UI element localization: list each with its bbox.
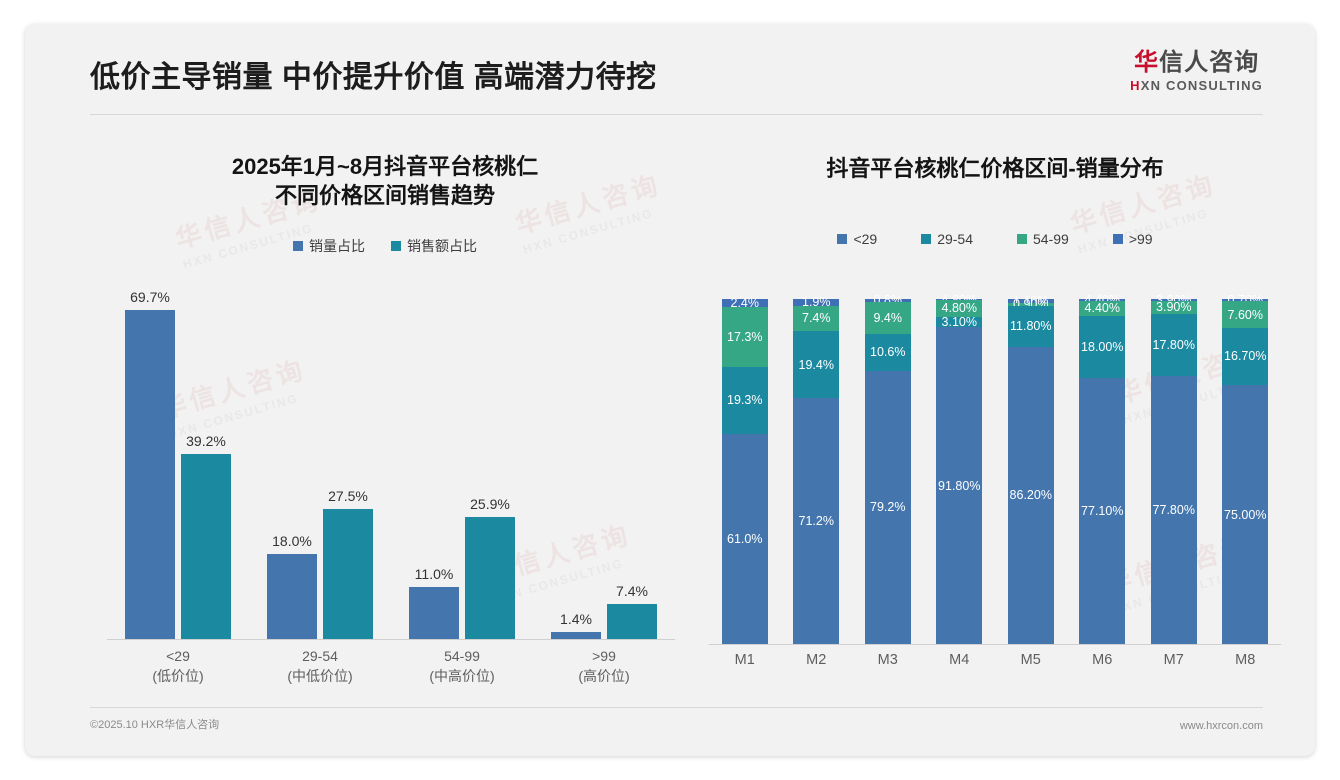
bar-group: 1.4%7.4% (533, 299, 675, 639)
stack-segment[interactable]: 19.4% (793, 331, 839, 398)
segment-value-label: 9.4% (874, 311, 903, 325)
x-axis-label: M5 (995, 652, 1067, 668)
segment-value-label: 79.2% (870, 500, 905, 514)
bar[interactable]: 11.0% (409, 587, 459, 639)
bar-value-label: 18.0% (272, 533, 312, 549)
page-title: 低价主导销量 中价提升价值 高端潜力待挖 (90, 52, 657, 96)
bar[interactable]: 27.5% (323, 509, 373, 639)
brand-logo: 华信人咨询 HXN CONSULTING (1130, 50, 1263, 93)
header: 低价主导销量 中价提升价值 高端潜力待挖 华信人咨询 HXN CONSULTIN… (25, 24, 1315, 120)
stacked-bar-column: 4.80%4.80%3.10%91.80% (924, 299, 996, 644)
bar-group: 18.0%27.5% (249, 299, 391, 639)
stacked-bar[interactable]: 4.40%4.40%18.00%77.10% (1079, 299, 1125, 644)
stack-segment[interactable]: 17.3% (722, 307, 768, 367)
stack-segment[interactable]: 3.90% (1151, 301, 1197, 314)
x-axis-label: M6 (1067, 652, 1139, 668)
slide-root: 华信人咨询 HXN CONSULTING 华信人咨询 HXN CONSULTIN… (0, 0, 1340, 780)
bar[interactable]: 1.4% (551, 632, 601, 639)
legend-swatch-icon (1017, 234, 1027, 244)
stack-segment[interactable]: 75.00% (1222, 385, 1268, 644)
bar-value-label: 7.4% (616, 583, 648, 599)
chart-right-title: 抖音平台核桃仁价格区间-销量分布 (695, 154, 1295, 183)
stack-segment[interactable]: 77.10% (1079, 378, 1125, 644)
legend-label: 29-54 (937, 231, 973, 247)
stack-segment[interactable]: 3.10% (936, 317, 982, 328)
logo-chinese: 华信人咨询 (1130, 50, 1263, 76)
segment-value-label: 91.80% (938, 479, 980, 493)
legend-item[interactable]: 销售额占比 (391, 236, 477, 256)
bar-value-label: 39.2% (186, 433, 226, 449)
bar-value-label: 1.4% (560, 611, 592, 627)
x-axis-label-tier: (中高价位) (391, 666, 533, 686)
bar-groups: 69.7%39.2%18.0%27.5%11.0%25.9%1.4%7.4% (107, 299, 675, 639)
segment-value-label: 18.00% (1081, 340, 1123, 354)
x-axis-label: 54-99(中高价位) (391, 646, 533, 687)
segment-value-label: 4.80% (942, 301, 977, 315)
chart-left-title: 2025年1月~8月抖音平台核桃仁 不同价格区间销售趋势 (85, 152, 685, 210)
segment-value-label: 77.10% (1081, 504, 1123, 518)
chart-left-x-axis (107, 639, 675, 640)
legend-item[interactable]: >99 (1113, 231, 1153, 247)
logo-chinese-rest: 信人咨询 (1159, 49, 1259, 76)
bar-fill (125, 310, 175, 639)
x-axis-label-range: 29-54 (249, 646, 391, 666)
stack-segment[interactable]: 91.80% (936, 327, 982, 644)
legend-label: 54-99 (1033, 231, 1069, 247)
stack-segment[interactable]: 61.0% (722, 434, 768, 644)
chart-left-title-line2: 不同价格区间销售趋势 (85, 181, 685, 210)
legend-item[interactable]: 54-99 (1017, 231, 1069, 247)
x-axis-label: M1 (709, 652, 781, 668)
bar-fill (607, 604, 657, 639)
stack-segment[interactable]: 86.20% (1008, 347, 1054, 644)
bar-group: 69.7%39.2% (107, 299, 249, 639)
stacked-bar-column: 3.90%3.90%17.80%77.80% (1138, 299, 1210, 644)
bar[interactable]: 7.4% (607, 604, 657, 639)
stacked-bar-column: 4.40%4.40%18.00%77.10% (1067, 299, 1139, 644)
legend-swatch-icon (1113, 234, 1123, 244)
bar-fill (551, 632, 601, 639)
stack-segment[interactable]: 4.40% (1079, 301, 1125, 316)
stack-segment[interactable]: 79.2% (865, 371, 911, 644)
x-axis-label-tier: (高价位) (533, 666, 675, 686)
logo-english-first-char: H (1130, 78, 1141, 93)
x-axis-label-range: >99 (533, 646, 675, 666)
legend-label: 销量占比 (309, 236, 365, 256)
segment-value-label: 86.20% (1010, 488, 1052, 502)
stacked-bar-column: 0.8%9.4%10.6%79.2% (852, 299, 924, 644)
segment-value-label: 17.3% (727, 330, 762, 344)
x-axis-label: >99(高价位) (533, 646, 675, 687)
bar[interactable]: 69.7% (125, 310, 175, 639)
chart-left-title-line1: 2025年1月~8月抖音平台核桃仁 (85, 152, 685, 181)
logo-english: HXN CONSULTING (1130, 78, 1263, 93)
segment-value-label: 7.60% (1228, 308, 1263, 322)
x-axis-label: M3 (852, 652, 924, 668)
stack-segment[interactable]: 10.6% (865, 334, 911, 371)
bar-value-label: 27.5% (328, 488, 368, 504)
x-axis-label-range: <29 (107, 646, 249, 666)
stacked-bar-column: 1.10%0.90%11.80%86.20% (995, 299, 1067, 644)
stack-segment[interactable]: 77.80% (1151, 376, 1197, 644)
legend-swatch-icon (391, 241, 401, 251)
chart-panel-left: 2025年1月~8月抖音平台核桃仁 不同价格区间销售趋势 销量占比 销售额占比 … (85, 134, 685, 714)
segment-value-label: 16.70% (1224, 349, 1266, 363)
stack-segment[interactable]: 11.80% (1008, 306, 1054, 347)
slide-card: 华信人咨询 HXN CONSULTING 华信人咨询 HXN CONSULTIN… (25, 24, 1315, 756)
stack-segment[interactable]: 7.60% (1222, 301, 1268, 327)
legend-label: 销售额占比 (407, 236, 477, 256)
legend-swatch-icon (293, 241, 303, 251)
bar[interactable]: 18.0% (267, 554, 317, 639)
bar-fill (409, 587, 459, 639)
stacked-bar[interactable]: 4.80%4.80%3.10%91.80% (936, 299, 982, 644)
logo-english-rest: XN CONSULTING (1141, 78, 1263, 93)
x-axis-label: 29-54(中低价位) (249, 646, 391, 687)
bar-value-label: 11.0% (415, 566, 454, 582)
segment-value-label: 10.6% (870, 345, 905, 359)
chart-right-x-axis (709, 644, 1281, 645)
chart-right-plot: 2.4%17.3%19.3%61.0%1.9%7.4%19.4%71.2%0.8… (709, 299, 1281, 644)
stack-segment[interactable]: 9.4% (865, 302, 911, 334)
stacked-bar-column: 1.9%7.4%19.4%71.2% (781, 299, 853, 644)
bar[interactable]: 39.2% (181, 454, 231, 639)
bar-value-label: 69.7% (130, 289, 170, 305)
footer-website[interactable]: www.hxrcon.com (1180, 720, 1263, 732)
segment-value-label: 3.90% (1156, 300, 1191, 314)
chart-right-x-labels: M1M2M3M4M5M6M7M8 (709, 652, 1281, 668)
bar-value-label: 25.9% (470, 496, 510, 512)
stacked-bar[interactable]: 0.8%9.4%10.6%79.2% (865, 299, 911, 644)
stacked-bar-column: 2.4%17.3%19.3%61.0% (709, 299, 781, 644)
x-axis-label: M7 (1138, 652, 1210, 668)
segment-value-label: 61.0% (727, 532, 762, 546)
segment-value-label: 75.00% (1224, 508, 1266, 522)
bar-fill (465, 517, 515, 639)
footer-copyright: ©2025.10 HXR华信人咨询 (90, 716, 219, 732)
x-axis-label-tier: (低价位) (107, 666, 249, 686)
stack-segment[interactable]: 71.2% (793, 398, 839, 644)
stack-segment[interactable]: 7.4% (793, 306, 839, 332)
stack-segment[interactable]: 18.00% (1079, 316, 1125, 378)
legend-swatch-icon (921, 234, 931, 244)
footer-divider (90, 707, 1263, 708)
x-axis-label: <29(低价位) (107, 646, 249, 687)
segment-value-label: 11.80% (1010, 319, 1051, 333)
bar-fill (181, 454, 231, 639)
header-divider (90, 114, 1263, 115)
segment-value-label: 4.40% (1085, 301, 1120, 315)
segment-value-label: 71.2% (799, 514, 834, 528)
bar-fill (267, 554, 317, 639)
segment-value-label: 77.80% (1153, 503, 1195, 517)
bar[interactable]: 25.9% (465, 517, 515, 639)
chart-right-legend: <29 29-54 54-99 >99 (695, 231, 1295, 247)
chart-panel-right: 抖音平台核桃仁价格区间-销量分布 <29 29-54 54-99 >99 (695, 134, 1295, 714)
stacked-bar[interactable]: 0.70%7.60%16.70%75.00% (1222, 299, 1268, 644)
stacked-bar-column: 0.70%7.60%16.70%75.00% (1210, 299, 1282, 644)
legend-item[interactable]: <29 (837, 231, 877, 247)
x-axis-label: M2 (781, 652, 853, 668)
stack-segment[interactable]: 16.70% (1222, 328, 1268, 386)
legend-swatch-icon (837, 234, 847, 244)
segment-value-label: 17.80% (1153, 338, 1195, 352)
segment-value-label: 7.4% (802, 311, 831, 325)
chart-left-x-labels: <29(低价位)29-54(中低价位)54-99(中高价位)>99(高价位) (107, 646, 675, 687)
stacked-bar[interactable]: 3.90%3.90%17.80%77.80% (1151, 299, 1197, 644)
x-axis-label-range: 54-99 (391, 646, 533, 666)
stacked-bar[interactable]: 1.9%7.4%19.4%71.2% (793, 299, 839, 644)
legend-item[interactable]: 销量占比 (293, 236, 365, 256)
bar-group: 11.0%25.9% (391, 299, 533, 639)
bar-fill (323, 509, 373, 639)
stacked-bar[interactable]: 1.10%0.90%11.80%86.20% (1008, 299, 1054, 644)
legend-label: >99 (1129, 231, 1153, 247)
x-axis-label: M8 (1210, 652, 1282, 668)
chart-left-legend: 销量占比 销售额占比 (85, 236, 685, 256)
stacked-bar[interactable]: 2.4%17.3%19.3%61.0% (722, 299, 768, 644)
stack-segment[interactable]: 2.4% (722, 299, 768, 307)
stack-segment[interactable]: 19.3% (722, 367, 768, 434)
stack-segment[interactable]: 17.80% (1151, 314, 1197, 375)
legend-label: <29 (853, 231, 877, 247)
segment-value-label: 19.3% (727, 393, 762, 407)
x-axis-label: M4 (924, 652, 996, 668)
logo-chinese-first-char: 华 (1134, 49, 1159, 76)
chart-left-plot: 69.7%39.2%18.0%27.5%11.0%25.9%1.4%7.4% (107, 299, 675, 639)
x-axis-label-tier: (中低价位) (249, 666, 391, 686)
legend-item[interactable]: 29-54 (921, 231, 973, 247)
segment-value-label: 19.4% (799, 358, 834, 372)
